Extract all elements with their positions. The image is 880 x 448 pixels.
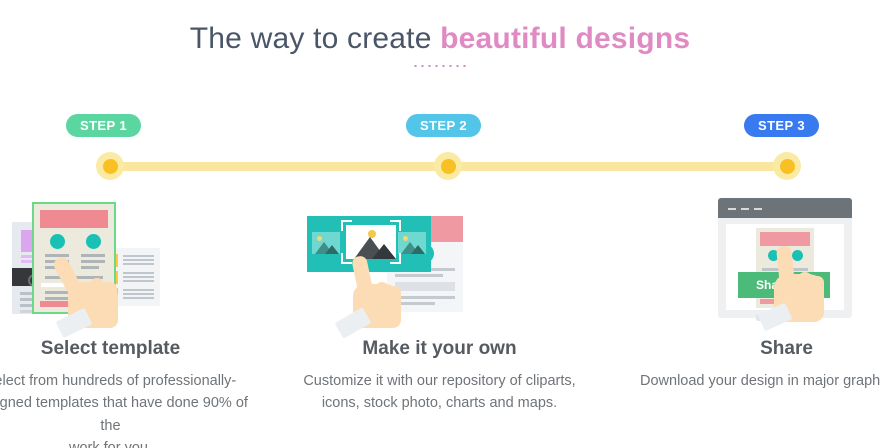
avatar-icon (50, 234, 65, 249)
progress-node-1[interactable] (96, 152, 124, 180)
page-title-block: The way to create beautiful designs (0, 22, 880, 68)
image-picker-illustration (293, 190, 586, 330)
step-body-1: Select from hundreds of professionally- … (0, 370, 257, 448)
step-badge-2[interactable]: STEP 2 (406, 114, 481, 137)
crop-corner-icon (390, 220, 401, 231)
page-title-prefix: The way to create (190, 22, 440, 55)
progress-node-dot-icon (103, 159, 118, 174)
window-dash-icon (728, 208, 736, 210)
step-body-2: Customize it with our repository of clip… (293, 370, 586, 415)
pointing-hand-icon (56, 256, 142, 334)
image-thumbnail-icon[interactable] (312, 232, 340, 254)
browser-share-illustration: Share (640, 190, 880, 330)
step-body-3: Download your design in major graphic fo… (640, 370, 880, 392)
image-thumbnail-icon[interactable] (398, 232, 426, 254)
photo-icon (346, 225, 396, 259)
step-heading-1: Select template (0, 338, 257, 360)
progress-node-3[interactable] (773, 152, 801, 180)
crop-corner-icon (341, 220, 352, 231)
progress-node-dot-icon (780, 159, 795, 174)
step-column-2: Make it your own Customize it with our r… (293, 190, 586, 415)
landing-steps-section: The way to create beautiful designs STEP… (0, 0, 880, 448)
page-title-accent: beautiful designs (440, 22, 690, 55)
browser-title-bar (718, 198, 852, 218)
step-badge-1[interactable]: STEP 1 (66, 114, 141, 137)
document-header-band (760, 232, 810, 246)
avatar-icon (86, 234, 101, 249)
step-heading-3: Share (640, 338, 880, 360)
progress-node-2[interactable] (434, 152, 462, 180)
template-picker-illustration (0, 190, 257, 330)
pointing-hand-icon (764, 248, 850, 328)
window-dash-icon (754, 208, 762, 210)
selected-image-frame[interactable] (341, 220, 401, 264)
step-badge-3[interactable]: STEP 3 (744, 114, 819, 137)
progress-node-dot-icon (441, 159, 456, 174)
step-heading-2: Make it your own (293, 338, 586, 360)
dotted-divider-icon (412, 64, 468, 68)
step-column-1: Select template Select from hundreds of … (0, 190, 257, 448)
pointing-hand-icon (343, 260, 429, 338)
window-dash-icon (741, 208, 749, 210)
card-header-band (40, 210, 108, 228)
page-title: The way to create beautiful designs (0, 22, 880, 56)
step-column-3: Share Share Download your design in majo… (640, 190, 880, 392)
